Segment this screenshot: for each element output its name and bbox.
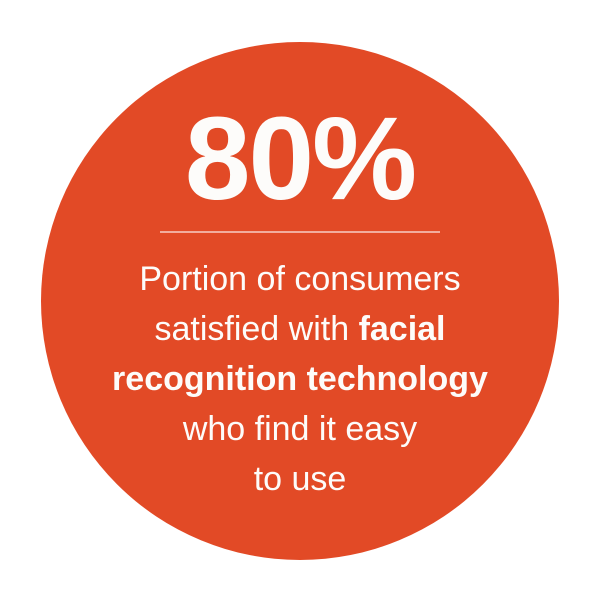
stat-callout-figure: 80% Portion of consumers satisfied with … [0, 0, 600, 600]
caption-line-4-text: who find it easy [183, 410, 417, 448]
stat-caption: Portion of consumers satisfied with faci… [41, 254, 559, 504]
caption-line-1: Portion of consumers [41, 254, 559, 304]
caption-line-2-emphasis: facial [359, 310, 446, 348]
stat-circle: 80% Portion of consumers satisfied with … [41, 42, 559, 560]
divider [160, 231, 440, 233]
caption-line-3-emphasis: recognition technology [112, 360, 488, 398]
caption-line-2: satisfied with facial [41, 304, 559, 354]
caption-line-1-text: Portion of consumers [139, 260, 460, 298]
caption-line-2-text: satisfied with [154, 310, 358, 348]
caption-line-3: recognition technology [41, 354, 559, 404]
stat-value: 80% [41, 100, 559, 218]
caption-line-4: who find it easy [41, 404, 559, 454]
caption-line-5-text: to use [254, 460, 347, 498]
caption-line-5: to use [41, 454, 559, 504]
